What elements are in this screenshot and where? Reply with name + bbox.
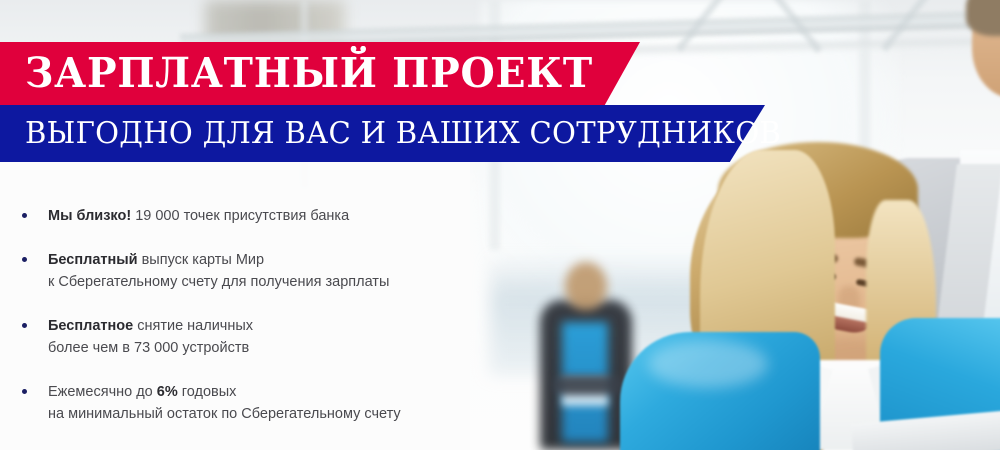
list-item-line: Бесплатный выпуск карты Мир: [48, 249, 470, 271]
list-item-line: Мы близко! 19 000 точек присутствия банк…: [48, 205, 470, 227]
benefits-list: Мы близко! 19 000 точек присутствия банк…: [0, 205, 470, 447]
list-item: Ежемесячно до 6% годовыхна минимальный о…: [0, 381, 470, 425]
page-title: ЗАРПЛАТНЫЙ ПРОЕКТ: [25, 47, 593, 99]
list-item: Бесплатный выпуск карты Мирк Сберегатель…: [0, 249, 470, 293]
promo-banner-image: ЗАРПЛАТНЫЙ ПРОЕКТ ВЫГОДНО ДЛЯ ВАС И ВАШИ…: [0, 0, 1000, 450]
blazer-highlight: [648, 340, 768, 388]
emphasis-text: Мы близко!: [48, 208, 131, 224]
emphasis-text: 6%: [157, 384, 178, 400]
list-item-line: к Сберегательному счету для получения за…: [48, 271, 470, 293]
list-item: Мы близко! 19 000 точек присутствия банк…: [0, 205, 470, 227]
emphasis-text: Бесплатный: [48, 252, 138, 268]
background-person-head: [565, 262, 607, 310]
list-item-line: Бесплатное снятие наличных: [48, 315, 470, 337]
list-item-line: более чем в 73 000 устройств: [48, 337, 470, 359]
emphasis-text: Бесплатное: [48, 318, 133, 334]
page-subtitle: ВЫГОДНО ДЛЯ ВАС И ВАШИХ СОТРУДНИКОВ: [25, 112, 781, 156]
background-person-arm: [552, 375, 624, 395]
list-item: Бесплатное снятие наличныхболее чем в 73…: [0, 315, 470, 359]
list-item-line: на минимальный остаток по Сберегательном…: [48, 403, 470, 425]
list-item-line: Ежемесячно до 6% годовых: [48, 381, 470, 403]
